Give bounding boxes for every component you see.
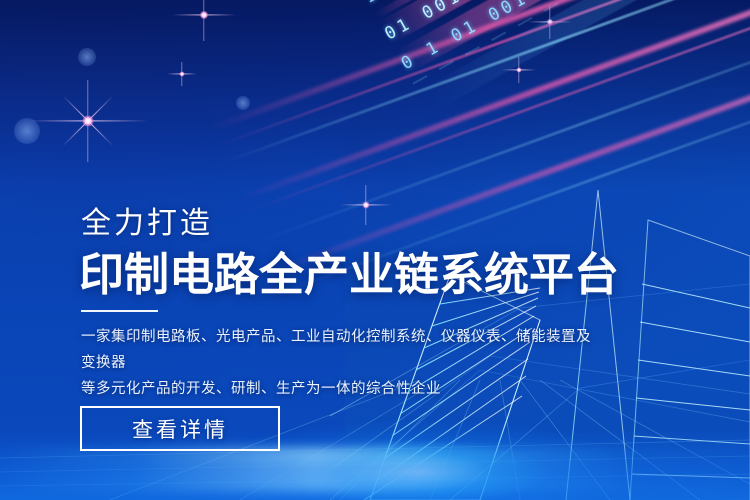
hero-banner: 01 01 001 01 001 01 01 0 1 001 01 01 1 0… <box>0 0 750 500</box>
hero-description: 一家集印制电路板、光电产品、工业自动化控制系统、仪器仪表、储能装置及变换器 等多… <box>81 324 601 402</box>
hero-headline: 印制电路全产业链系统平台 <box>79 238 619 303</box>
hero-divider <box>81 310 158 312</box>
hero-description-line-1: 一家集印制电路板、光电产品、工业自动化控制系统、仪器仪表、储能装置及变换器 <box>81 324 601 376</box>
view-details-button[interactable]: 查看详情 <box>80 406 280 451</box>
bokeh-dot <box>14 118 40 144</box>
hero-description-line-2: 等多元化产品的开发、研制、生产为一体的综合性企业 <box>81 376 601 402</box>
hero-content: 全力打造 印制电路全产业链系统平台 一家集印制电路板、光电产品、工业自动化控制系… <box>81 0 681 500</box>
hero-eyebrow: 全力打造 <box>81 198 213 242</box>
